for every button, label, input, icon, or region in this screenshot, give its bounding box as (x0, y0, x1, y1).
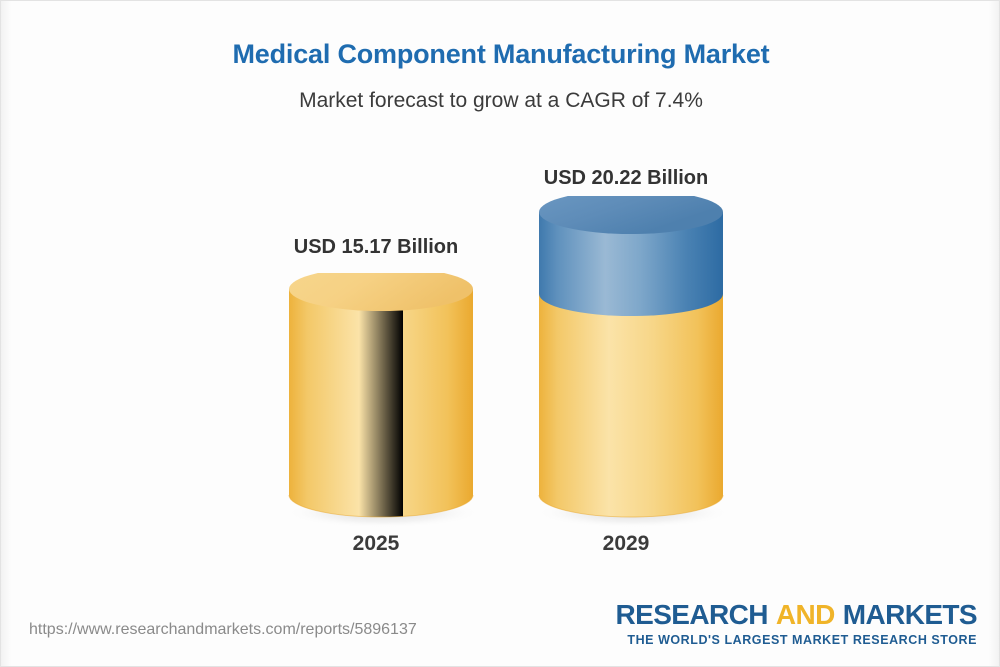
logo-word-research: RESEARCH (616, 599, 768, 630)
bar-value-label-2025: USD 15.17 Billion (276, 236, 476, 259)
research-and-markets-logo[interactable]: RESEARCHANDMARKETS THE WORLD'S LARGEST M… (616, 601, 977, 647)
report-url[interactable]: https://www.researchandmarkets.com/repor… (29, 621, 417, 639)
logo-word-and: AND (776, 599, 835, 630)
bar-body-base-2029 (539, 294, 723, 517)
bar-cylinder-2029 (533, 196, 729, 529)
bar-cylinder-2025 (283, 273, 479, 529)
logo-wordmark: RESEARCHANDMARKETS (616, 601, 977, 629)
bar-value-label-2029: USD 20.22 Billion (526, 167, 726, 190)
x-axis-label-2025: 2025 (276, 532, 476, 556)
logo-word-markets: MARKETS (843, 599, 977, 630)
x-axis-label-2029: 2029 (526, 532, 726, 556)
chart-plot-area: USD 15.17 Billion USD 20.22 Billion 2025… (1, 1, 1000, 667)
logo-tagline: THE WORLD'S LARGEST MARKET RESEARCH STOR… (616, 633, 977, 647)
bar-body-2025 (289, 289, 473, 517)
chart-card: Medical Component Manufacturing Market M… (0, 0, 1000, 667)
